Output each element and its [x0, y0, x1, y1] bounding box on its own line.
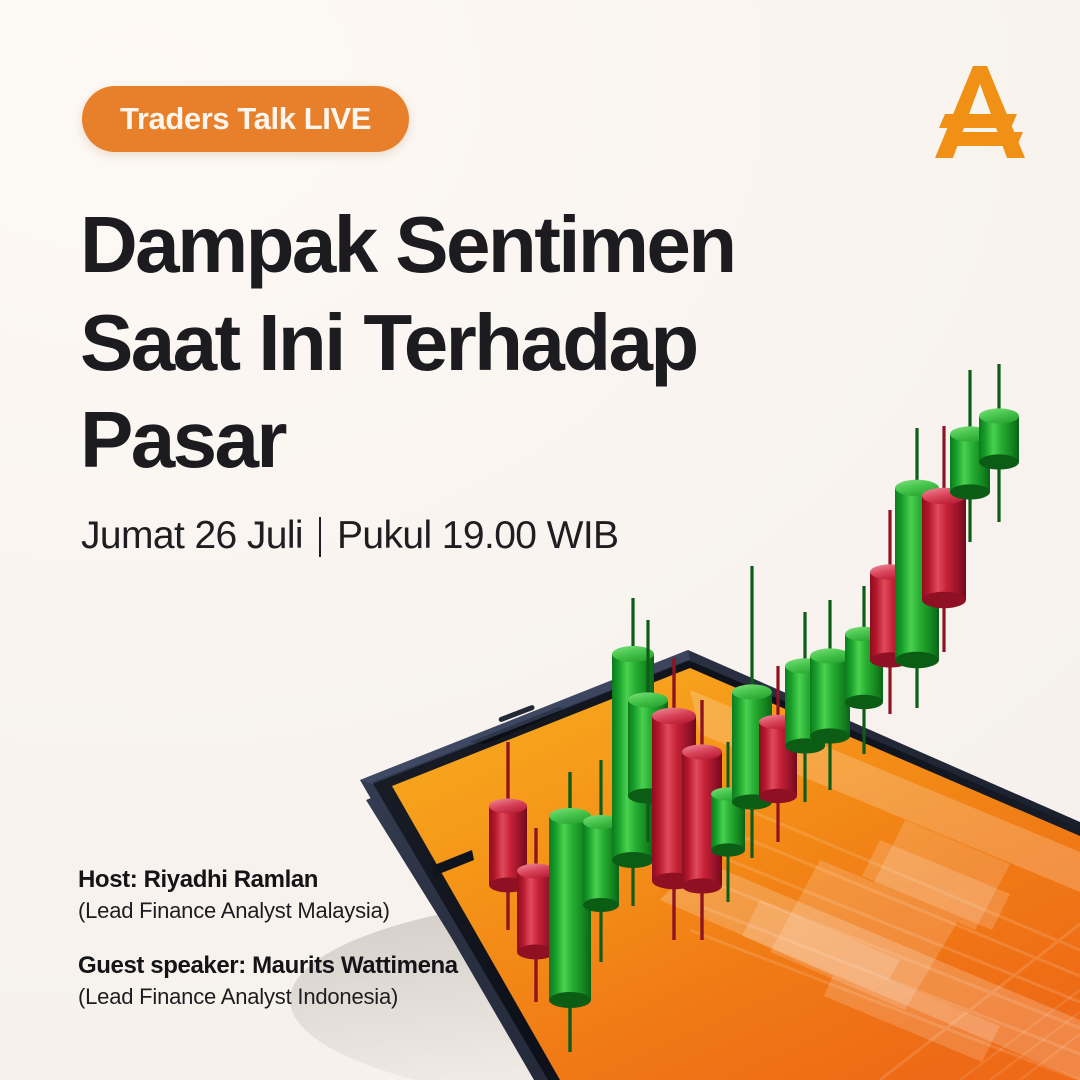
schedule-line: Jumat 26 Juli Pukul 19.00 WIB [81, 514, 618, 558]
ascendance-a-logo [933, 62, 1025, 158]
schedule-separator [319, 517, 321, 557]
candle-7 [652, 658, 696, 940]
candle-11 [759, 666, 797, 842]
candle-18 [950, 370, 990, 542]
page-title: Dampak Sentimen Saat Ini Terhadap Pasar [80, 196, 800, 489]
credits-block: Host: Riyadhi Ramlan (Lead Finance Analy… [78, 866, 458, 1010]
headline-line-1: Dampak Sentimen [80, 196, 800, 294]
credit-host: Host: Riyadhi Ramlan (Lead Finance Analy… [78, 866, 458, 924]
credit-host-role: (Lead Finance Analyst Malaysia) [78, 898, 458, 924]
candle-9 [711, 742, 745, 902]
screen-content [660, 690, 1080, 1080]
credit-guest-role: (Lead Finance Analyst Indonesia) [78, 984, 458, 1010]
live-badge-label: Traders Talk LIVE [120, 101, 371, 137]
candle-5 [612, 598, 654, 906]
schedule-date: Jumat 26 Juli [81, 514, 303, 558]
candle-19 [979, 364, 1019, 522]
candle-15 [870, 510, 910, 714]
candle-1 [489, 742, 527, 930]
credit-guest-name: Guest speaker: Maurits Wattimena [78, 952, 458, 980]
schedule-time: Pukul 19.00 WIB [337, 514, 618, 558]
candle-3 [549, 772, 591, 1052]
phone-notch [470, 704, 562, 744]
candle-4 [583, 760, 619, 962]
candle-16 [895, 428, 939, 708]
candle-12 [785, 612, 825, 802]
credit-guest: Guest speaker: Maurits Wattimena (Lead F… [78, 952, 458, 1010]
headline-line-3: Pasar [80, 391, 800, 489]
live-badge[interactable]: Traders Talk LIVE [82, 86, 409, 152]
poster-canvas: Traders Talk LIVE Dampak Sentimen Saat I… [0, 0, 1080, 1080]
credit-host-name: Host: Riyadhi Ramlan [78, 866, 458, 894]
candle-6 [628, 620, 668, 842]
candle-14 [845, 586, 883, 754]
candle-13 [810, 600, 850, 790]
candle-10 [732, 566, 772, 858]
phone-device [360, 650, 1080, 1080]
candle-17 [922, 426, 966, 652]
candle-8 [682, 700, 722, 940]
candle-2 [517, 828, 555, 1002]
headline-line-2: Saat Ini Terhadap [80, 294, 800, 392]
